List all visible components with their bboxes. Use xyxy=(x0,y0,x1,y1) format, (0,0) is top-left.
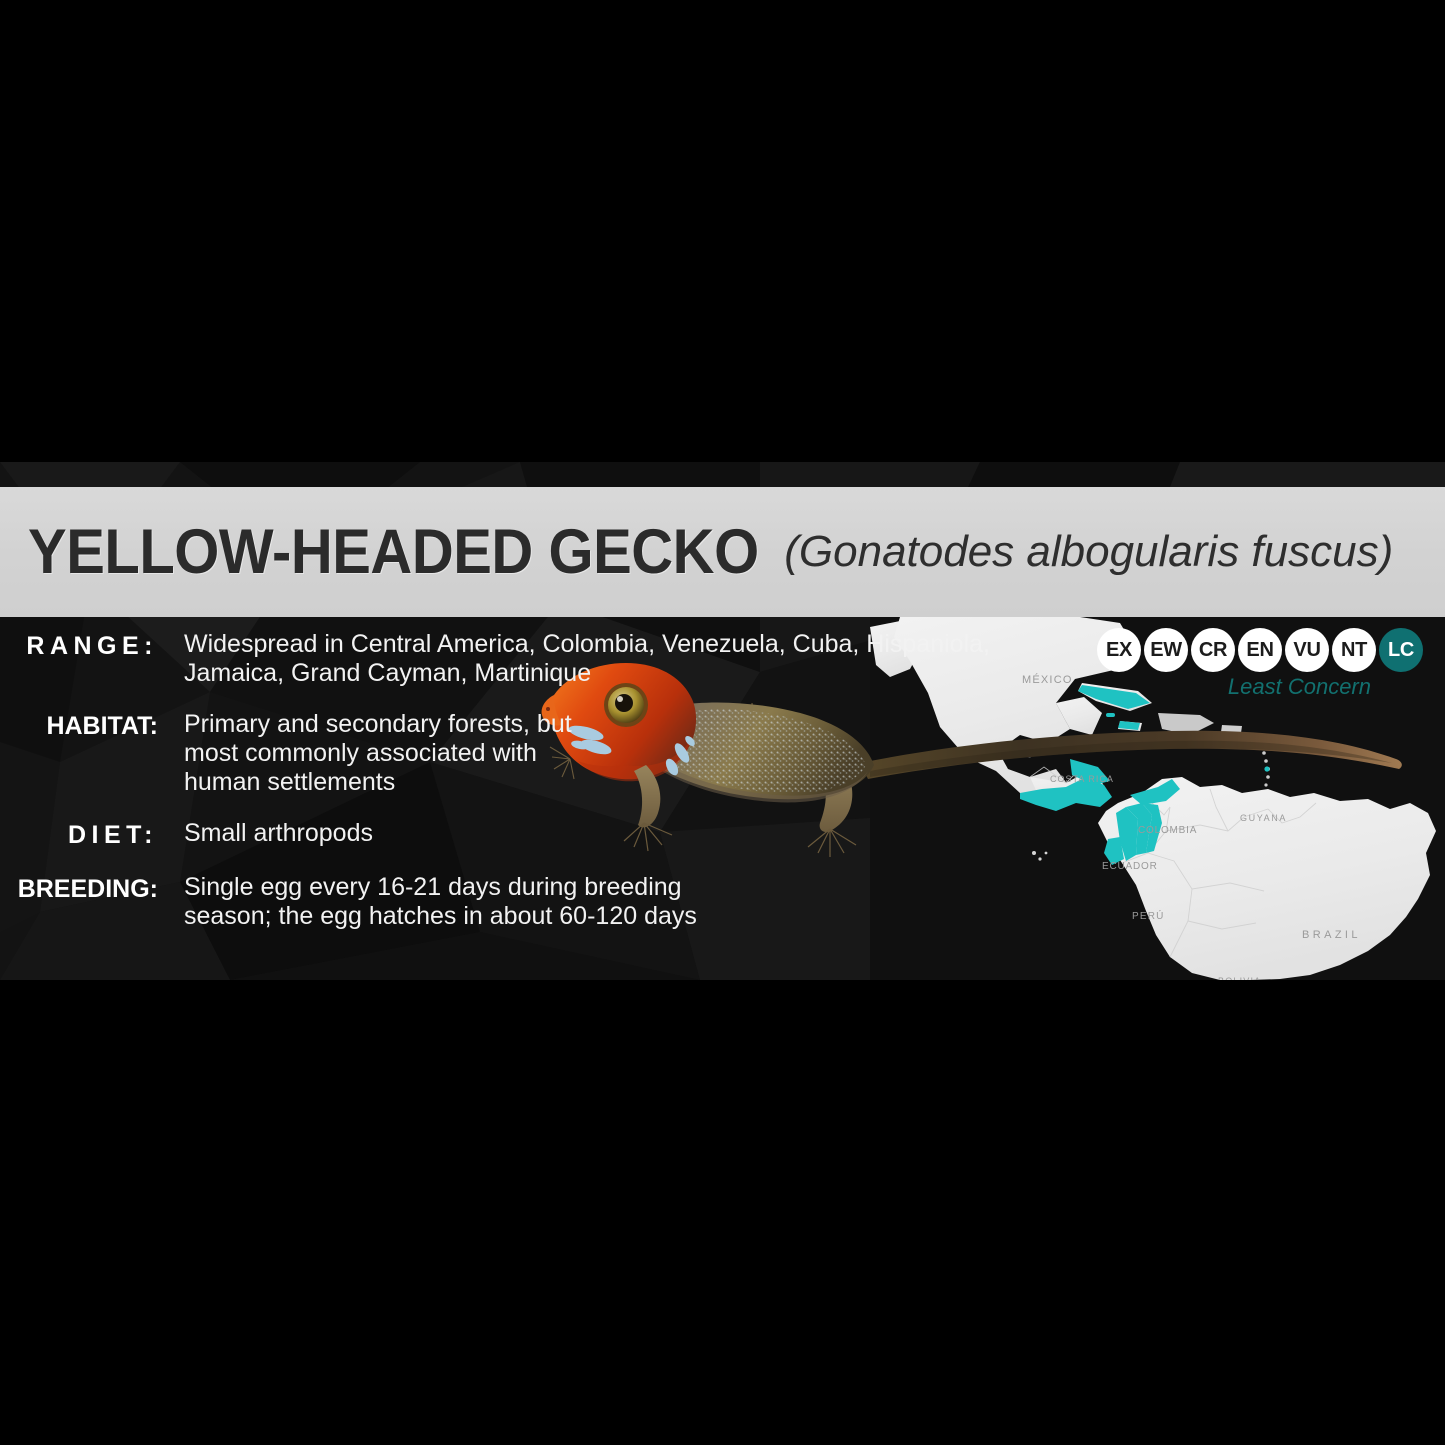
info-row-label: BREEDING: xyxy=(0,873,158,931)
iucn-badge-nt[interactable]: NT xyxy=(1332,628,1376,672)
info-row-line: Widespread in Central America, Colombia,… xyxy=(184,630,884,659)
info-row: HABITAT:Primary and secondary forests, b… xyxy=(0,710,900,797)
conservation-status: EXEWCRENVUNTLC Least Concern xyxy=(1097,628,1423,700)
info-row-line: Jamaica, Grand Cayman, Martinique xyxy=(184,659,884,688)
map-label-bolivia: BOLIVIA xyxy=(1218,976,1261,980)
info-row-line: most commonly associated with xyxy=(184,739,572,768)
info-row-value: Primary and secondary forests, butmost c… xyxy=(184,710,572,797)
info-row-label: RANGE: xyxy=(0,630,158,688)
info-row-value: Widespread in Central America, Colombia,… xyxy=(184,630,884,688)
info-row-line: human settlements xyxy=(184,768,572,797)
gecko-tail xyxy=(860,731,1402,779)
iucn-badge-cr[interactable]: CR xyxy=(1191,628,1235,672)
info-row-value: Small arthropods xyxy=(184,819,373,851)
title-band: YELLOW-HEADED GECKO (Gonatodes albogular… xyxy=(0,487,1445,617)
info-row: RANGE:Widespread in Central America, Col… xyxy=(0,630,900,688)
info-row-line: Small arthropods xyxy=(184,819,373,848)
info-table: RANGE:Widespread in Central America, Col… xyxy=(0,617,900,931)
iucn-badge-lc[interactable]: LC xyxy=(1379,628,1423,672)
iucn-badge-ew[interactable]: EW xyxy=(1144,628,1188,672)
info-row-line: Single egg every 16-21 days during breed… xyxy=(184,873,697,902)
iucn-badge-vu[interactable]: VU xyxy=(1285,628,1329,672)
info-row-label: HABITAT: xyxy=(0,710,158,797)
page-title: YELLOW-HEADED GECKO xyxy=(28,521,759,584)
iucn-badge-row: EXEWCRENVUNTLC xyxy=(1097,628,1423,672)
info-row-line: season; the egg hatches in about 60-120 … xyxy=(184,902,697,931)
info-row-label: DIET: xyxy=(0,819,158,851)
map-label-brazil: BRAZIL xyxy=(1302,929,1361,941)
scientific-name: (Gonatodes albogularis fuscus) xyxy=(784,530,1393,574)
info-row-line: Primary and secondary forests, but xyxy=(184,710,572,739)
iucn-badge-ex[interactable]: EX xyxy=(1097,628,1141,672)
status-badge: Least Concern xyxy=(1097,674,1423,700)
iucn-badge-en[interactable]: EN xyxy=(1238,628,1282,672)
info-row: DIET:Small arthropods xyxy=(0,819,900,851)
map-label-per: PERÚ xyxy=(1132,909,1165,922)
info-row-value: Single egg every 16-21 days during breed… xyxy=(184,873,697,931)
info-row: BREEDING:Single egg every 16-21 days dur… xyxy=(0,873,900,931)
species-info-card: MÉXICOCOSTA RICACOLOMBIAECUADORGUYANAPER… xyxy=(0,462,1445,980)
